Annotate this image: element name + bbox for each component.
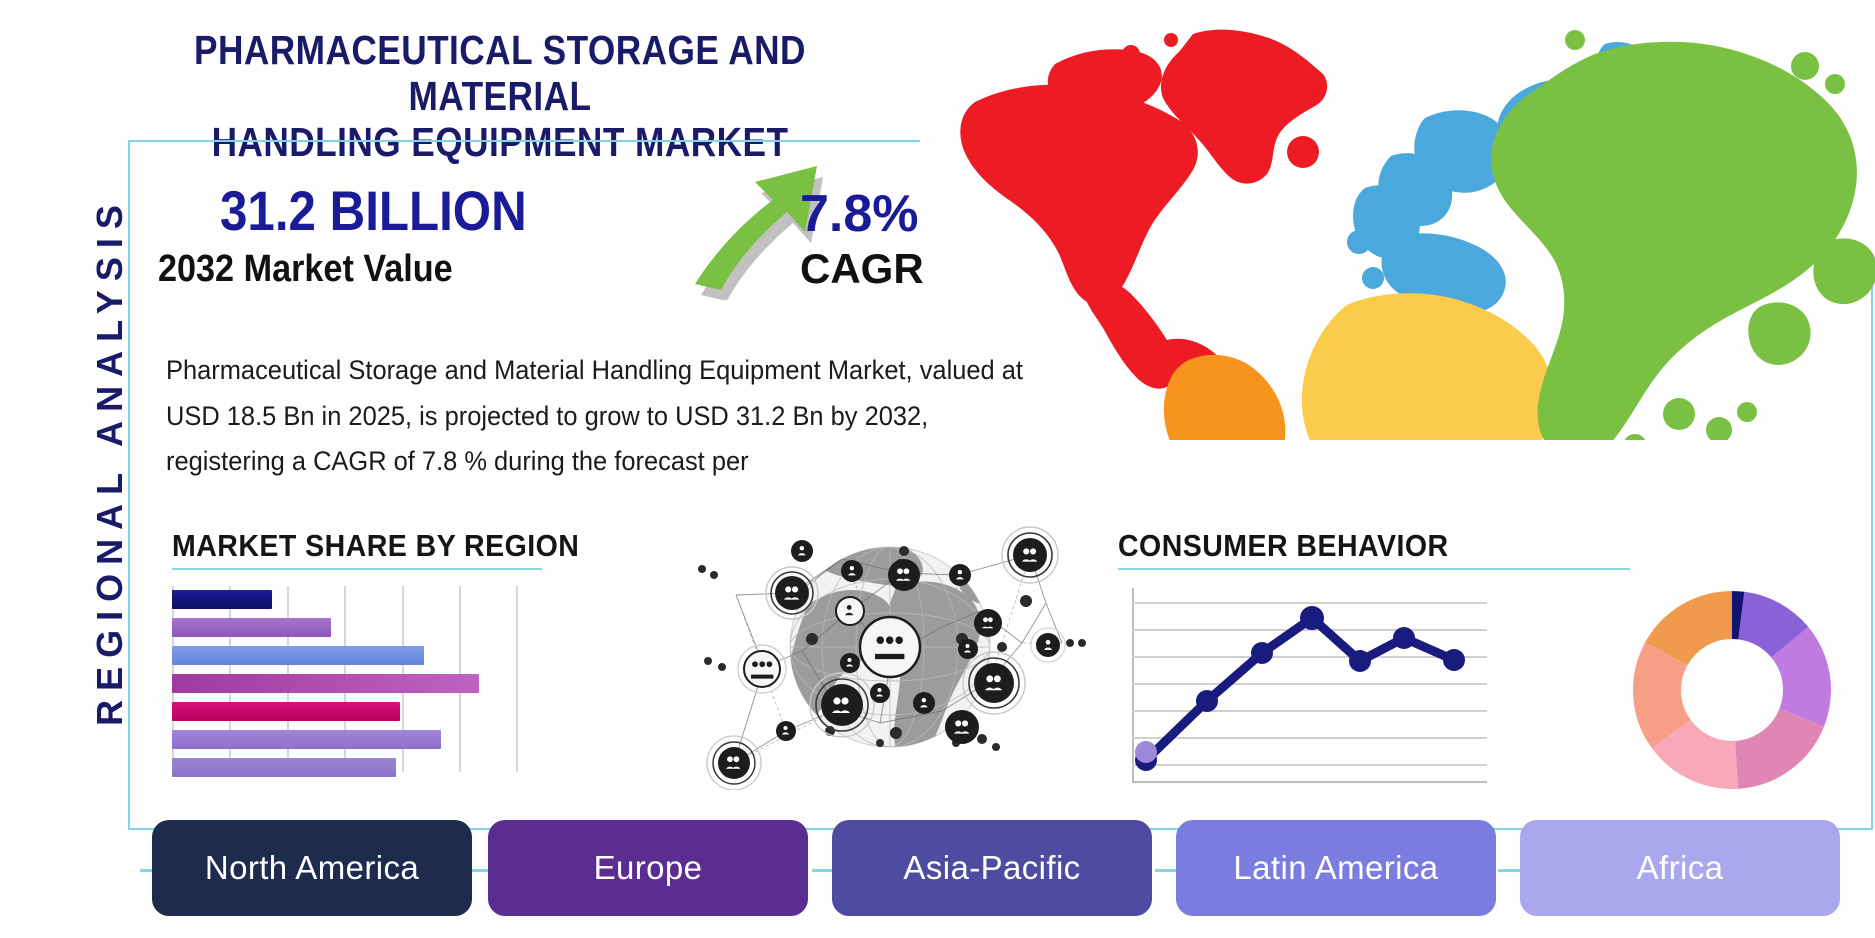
line-chart-first-point [1135, 741, 1157, 763]
line-chart-point [1196, 690, 1218, 712]
market-value-label: 2032 Market Value [158, 248, 453, 291]
bar-1 [172, 590, 272, 609]
consumer-behavior-heading: CONSUMER BEHAVIOR [1118, 528, 1449, 564]
headline-stats: 31.2 BILLION 2032 Market Value 7.8% CAGR [150, 170, 940, 300]
global-network-people-icon [690, 515, 1090, 790]
bar-2 [172, 618, 331, 637]
page-title-line-2: HANDLING EQUIPMENT MARKET [160, 120, 839, 166]
line-chart-point [1300, 606, 1324, 630]
bar-7 [172, 758, 396, 777]
map-region-south-america [1164, 355, 1285, 440]
region-button-north-america[interactable]: North America [152, 820, 472, 916]
page-title-line-1: PHARMACEUTICAL STORAGE AND MATERIAL [160, 28, 839, 120]
regional-analysis-side-label: REGIONAL ANALYSIS [89, 161, 131, 761]
region-button-label: North America [205, 849, 419, 887]
line-chart-point [1349, 650, 1371, 672]
line-chart-point [1393, 627, 1415, 649]
page-title: PHARMACEUTICAL STORAGE AND MATERIAL HAND… [160, 28, 839, 166]
region-button-row: North America Europe Asia-Pacific Latin … [140, 820, 1860, 920]
bar-4 [172, 674, 479, 693]
region-button-europe[interactable]: Europe [488, 820, 808, 916]
region-button-asia-pacific[interactable]: Asia-Pacific [832, 820, 1152, 916]
market-share-heading-rule [172, 568, 542, 570]
market-description-text: Pharmaceutical Storage and Material Hand… [166, 348, 1035, 485]
consumer-behavior-line-chart [1132, 588, 1487, 783]
region-button-label: Latin America [1233, 849, 1438, 887]
world-map-graphic [935, 10, 1875, 440]
map-region-north-america [960, 30, 1327, 397]
infographic-root: REGIONAL ANALYSIS PHARMACEUTICAL STORAGE… [0, 0, 1875, 938]
cagr-figure: 7.8% [800, 184, 919, 244]
map-region-africa [1302, 293, 1553, 440]
region-button-label: Africa [1637, 849, 1724, 887]
region-button-label: Asia-Pacific [903, 849, 1080, 887]
market-share-bar-chart [172, 586, 517, 772]
line-chart-point [1251, 642, 1273, 664]
region-button-africa[interactable]: Africa [1520, 820, 1840, 916]
bar-5 [172, 702, 400, 721]
region-button-label: Europe [594, 849, 703, 887]
market-share-heading: MARKET SHARE BY REGION [172, 528, 579, 564]
bar-6 [172, 730, 441, 749]
market-value-figure: 31.2 BILLION [220, 178, 527, 243]
cagr-label: CAGR [800, 245, 924, 293]
consumer-behavior-donut-chart [1632, 590, 1832, 790]
region-button-latin-america[interactable]: Latin America [1176, 820, 1496, 916]
bar-3 [172, 646, 424, 665]
line-chart-point [1443, 649, 1465, 671]
consumer-behavior-heading-rule [1118, 568, 1630, 570]
map-region-asia [1491, 30, 1875, 440]
